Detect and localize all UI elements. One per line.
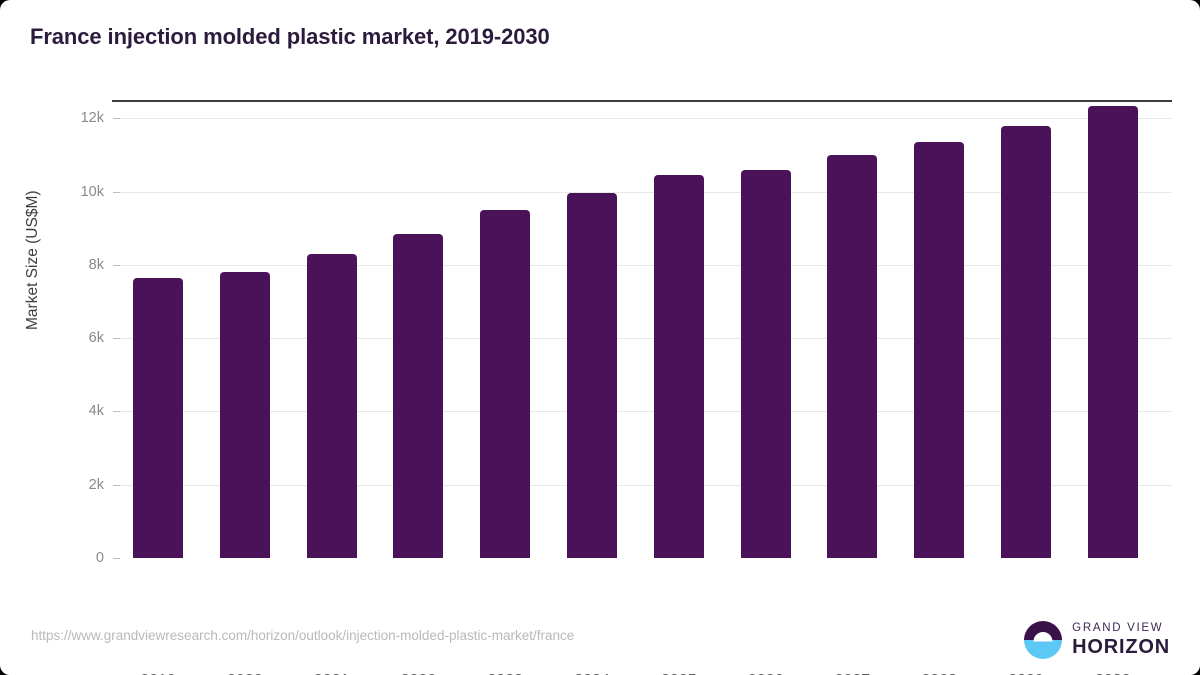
bar-2021[interactable]: [307, 254, 357, 558]
bar-2027[interactable]: [827, 155, 877, 558]
bar-2025[interactable]: [654, 175, 704, 558]
y-tick-mark: [113, 192, 120, 193]
bar-2024[interactable]: [567, 193, 617, 558]
x-axis-line: [112, 100, 1172, 102]
y-tick-label: 4k: [24, 403, 104, 419]
bar-2023[interactable]: [480, 210, 530, 558]
bar-2030[interactable]: [1088, 106, 1138, 559]
y-tick-mark: [113, 485, 120, 486]
y-tick-label: 2k: [24, 477, 104, 493]
brand-logo[interactable]: GRAND VIEW HORIZON: [1023, 620, 1170, 660]
y-tick-label: 12k: [24, 110, 104, 126]
y-tick-mark: [113, 411, 120, 412]
y-tick-label: 8k: [24, 257, 104, 273]
y-tick-mark: [113, 338, 120, 339]
chart-page: France injection molded plastic market, …: [0, 0, 1200, 675]
y-tick-mark: [113, 118, 120, 119]
y-tick-mark: [113, 265, 120, 266]
bar-2022[interactable]: [393, 234, 443, 558]
grand-view-horizon-logo-icon: [1023, 620, 1063, 660]
y-tick-label: 0: [24, 550, 104, 566]
source-url[interactable]: https://www.grandviewresearch.com/horizo…: [31, 628, 574, 643]
logo-line-2: HORIZON: [1072, 637, 1170, 657]
gridline: [120, 118, 1172, 119]
y-tick-label: 6k: [24, 330, 104, 346]
logo-wordmark: GRAND VIEW HORIZON: [1072, 623, 1170, 658]
logo-line-1: GRAND VIEW: [1072, 623, 1170, 635]
bar-2028[interactable]: [914, 142, 964, 558]
y-tick-label: 10k: [24, 184, 104, 200]
plot-area: 02k4k6k8k10k12k2019202020212022202320242…: [120, 100, 1172, 558]
y-tick-mark: [113, 558, 120, 559]
bar-2020[interactable]: [220, 272, 270, 558]
chart-canvas: Market Size (US$M) 02k4k6k8k10k12k201920…: [0, 0, 1200, 675]
bar-2026[interactable]: [741, 170, 791, 558]
bar-2029[interactable]: [1001, 126, 1051, 558]
bar-2019[interactable]: [133, 278, 183, 558]
